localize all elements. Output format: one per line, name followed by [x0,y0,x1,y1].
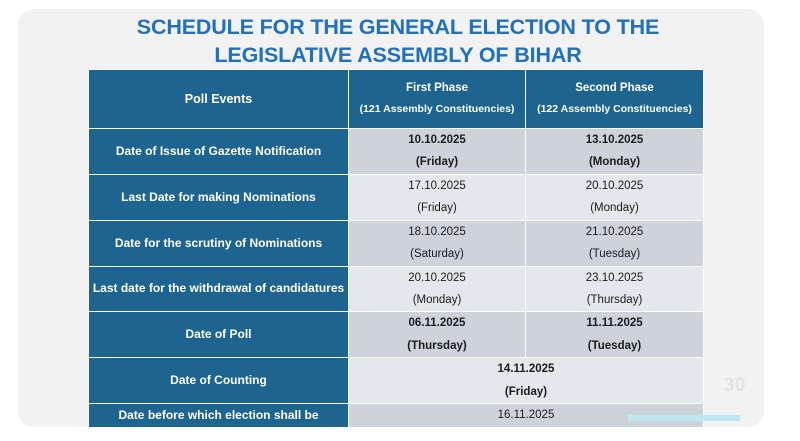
date-value: 20.10.2025 [408,272,466,284]
day-value: (Thursday) [526,289,703,311]
cell-merged-date-of-counting: 14.11.2025 (Friday) [349,358,704,404]
date-value: 23.10.2025 [586,272,644,284]
day-value: (Tuesday) [526,243,703,265]
page-title-line-2: LEGISLATIVE ASSEMBLY OF BIHAR [88,41,708,69]
election-schedule-table: Poll Events First Phase (121 Assembly Co… [88,69,704,427]
row-label-scrutiny-nominations: Date for the scrutiny of Nominations [89,220,349,266]
day-value: (Friday) [349,197,525,219]
row-label-date-of-counting: Date of Counting [89,358,349,404]
day-value: (Sunday) [349,426,703,427]
row-label-gazette-notification: Date of Issue of Gazette Notification [89,129,349,175]
column-header-poll-events: Poll Events [89,70,349,129]
column-header-second-phase: Second Phase (122 Assembly Constituencie… [526,70,704,129]
date-value: 17.10.2025 [408,180,466,192]
day-value: (Monday) [526,197,703,219]
day-value: (Monday) [349,289,525,311]
date-value: 20.10.2025 [586,180,644,192]
date-value: 14.11.2025 [498,363,555,375]
cell-phase2-scrutiny-nominations: 21.10.2025 (Tuesday) [526,220,704,266]
slide-viewport: SCHEDULE FOR THE GENERAL ELECTION TO THE… [0,0,800,441]
table-row: Last date for the withdrawal of candidat… [89,266,704,312]
page-title-line-1: SCHEDULE FOR THE GENERAL ELECTION TO THE [88,13,708,41]
row-label-date-of-poll: Date of Poll [89,312,349,358]
date-value: 21.10.2025 [586,226,644,238]
date-value: 10.10.2025 [408,134,466,146]
cell-phase1-gazette-notification: 10.10.2025 (Friday) [349,129,526,175]
day-value: (Friday) [349,151,525,173]
day-value: (Monday) [526,151,703,173]
table-row: Date for the scrutiny of Nominations 18.… [89,220,704,266]
date-value: 13.10.2025 [586,134,644,146]
page-title: SCHEDULE FOR THE GENERAL ELECTION TO THE… [88,13,708,70]
slide-number: 30 [724,375,746,397]
cell-phase2-gazette-notification: 13.10.2025 (Monday) [526,129,704,175]
row-label-last-date-nominations: Last Date for making Nominations [89,174,349,220]
first-phase-subtitle: (121 Assembly Constituencies) [349,100,525,120]
cell-phase2-date-of-poll: 11.11.2025 (Tuesday) [526,312,704,358]
cell-phase2-last-date-nominations: 20.10.2025 (Monday) [526,174,704,220]
table-row: Date of Issue of Gazette Notification 10… [89,129,704,175]
table-row: Date of Poll 06.11.2025 (Thursday) 11.11… [89,312,704,358]
slide-progress-bar[interactable] [40,415,740,421]
day-value: (Saturday) [349,243,525,265]
cell-phase1-date-of-poll: 06.11.2025 (Thursday) [349,312,526,358]
cell-phase2-withdrawal-candidatures: 23.10.2025 (Thursday) [526,266,704,312]
slide-card: SCHEDULE FOR THE GENERAL ELECTION TO THE… [18,9,764,427]
table-row: Date of Counting 14.11.2025 (Friday) [89,358,704,404]
table-row: Last Date for making Nominations 17.10.2… [89,174,704,220]
cell-phase1-withdrawal-candidatures: 20.10.2025 (Monday) [349,266,526,312]
slide-content: SCHEDULE FOR THE GENERAL ELECTION TO THE… [18,9,764,427]
slide-progress-fill [628,415,740,421]
cell-phase1-scrutiny-nominations: 18.10.2025 (Saturday) [349,220,526,266]
day-value: (Friday) [349,381,703,403]
date-value: 11.11.2025 [586,317,642,329]
table-header-row: Poll Events First Phase (121 Assembly Co… [89,70,704,129]
cell-phase1-last-date-nominations: 17.10.2025 (Friday) [349,174,526,220]
second-phase-title: Second Phase [575,82,654,94]
date-value: 06.11.2025 [409,317,466,329]
day-value: (Tuesday) [526,335,703,357]
row-label-withdrawal-candidatures: Last date for the withdrawal of candidat… [89,266,349,312]
day-value: (Thursday) [349,335,525,357]
column-header-first-phase: First Phase (121 Assembly Constituencies… [349,70,526,129]
second-phase-subtitle: (122 Assembly Constituencies) [526,100,703,120]
date-value: 18.10.2025 [408,226,466,238]
first-phase-title: First Phase [406,82,468,94]
